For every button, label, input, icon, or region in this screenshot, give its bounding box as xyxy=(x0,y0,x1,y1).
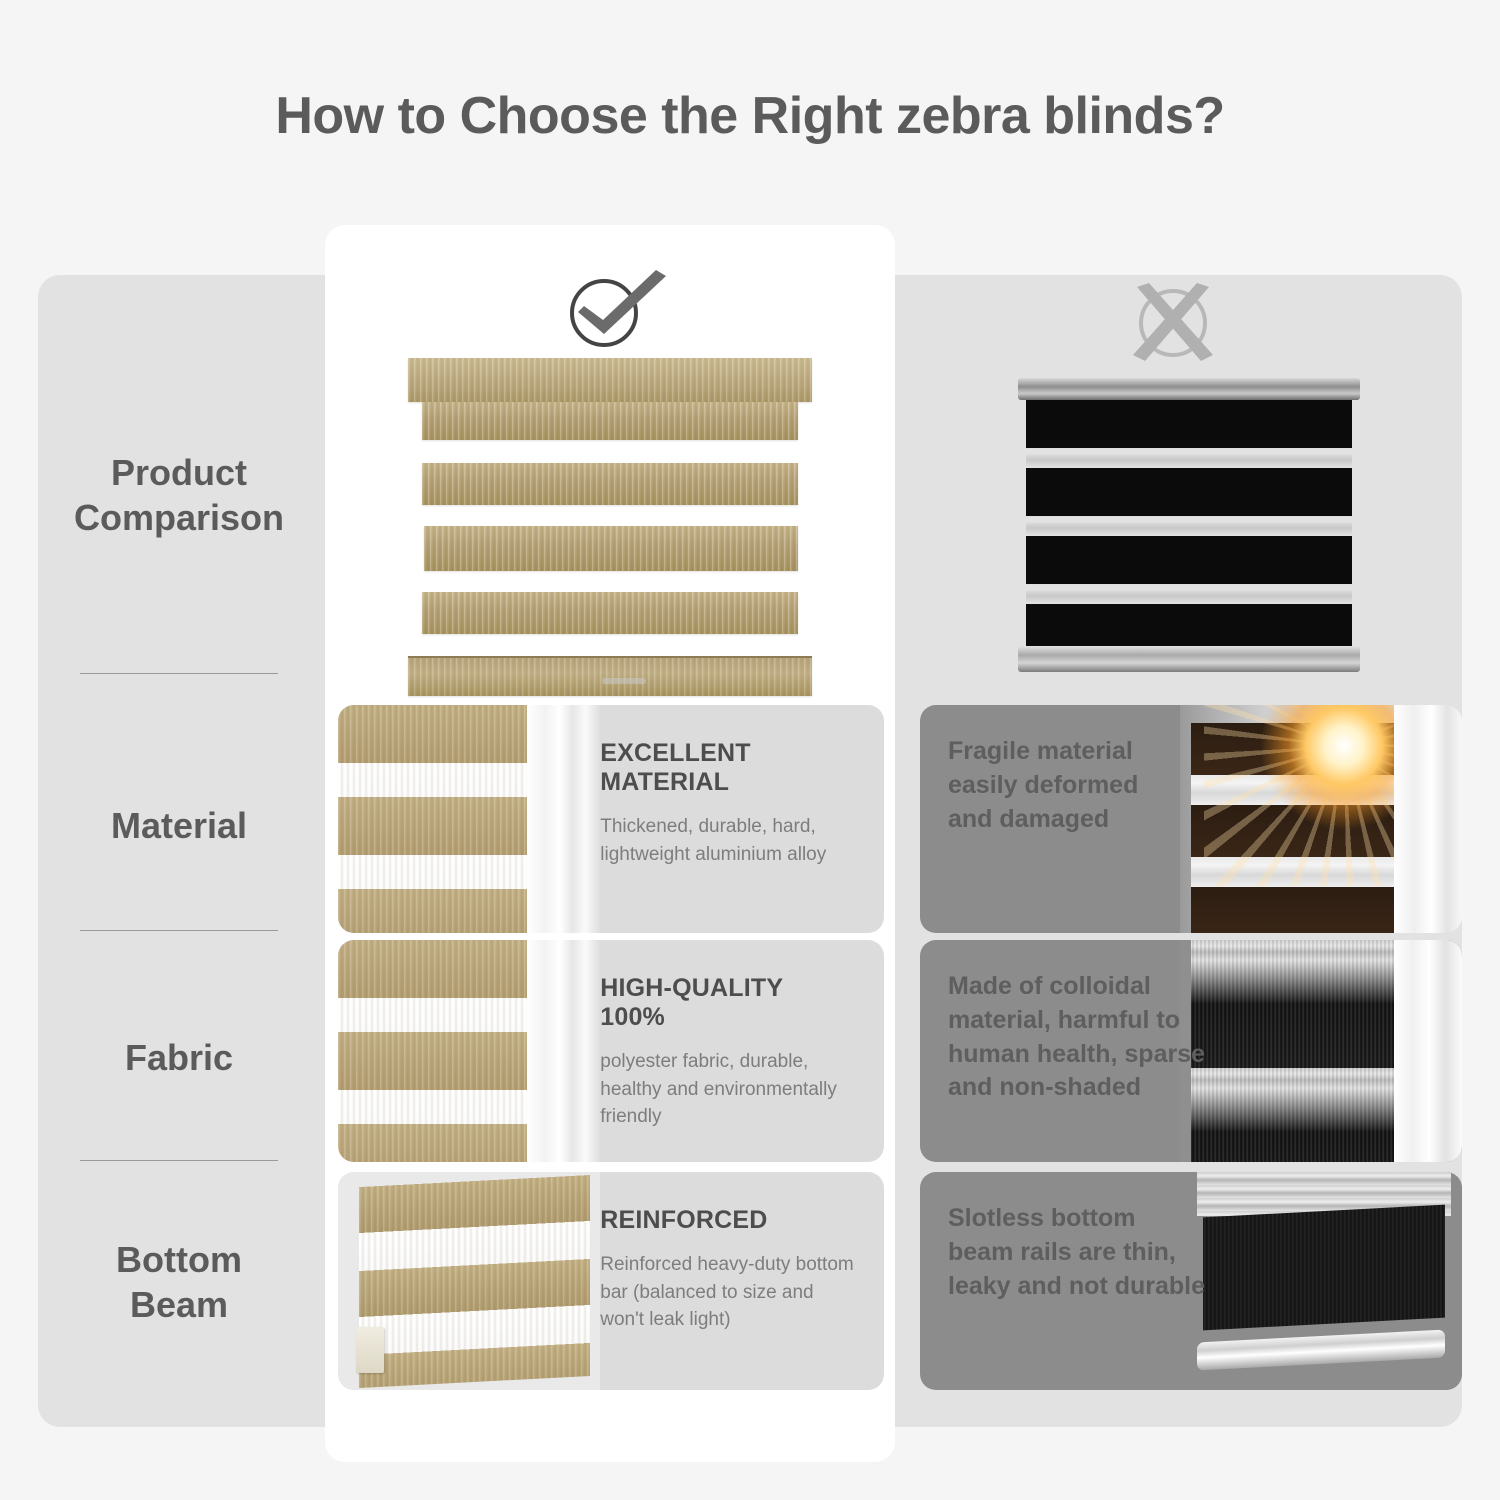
tan-stripes xyxy=(338,705,532,933)
good-feature-material: EXCELLENT MATERIAL Thickened, durable, h… xyxy=(338,705,884,933)
tan-bottom-bar-closeup-image xyxy=(338,1172,600,1390)
tan-slats xyxy=(359,1175,590,1388)
wood-grain-texture xyxy=(338,705,532,933)
window-frame xyxy=(1394,705,1462,933)
good-product-hero-image xyxy=(408,358,812,696)
bad-feature-bottom-beam-text: Slotless bottom beam rails are thin, lea… xyxy=(920,1172,1224,1390)
check-circle-icon xyxy=(556,268,676,352)
row-label-material: Material xyxy=(38,803,320,848)
feature-body: polyester fabric, durable, healthy and e… xyxy=(600,1048,854,1131)
window-frame xyxy=(1394,940,1462,1162)
cross-circle-icon xyxy=(1123,281,1223,365)
feature-title: EXCELLENT MATERIAL xyxy=(600,739,854,797)
bad-feature-bottom-beam: Slotless bottom beam rails are thin, lea… xyxy=(920,1172,1462,1390)
row-label-bottom-beam: Bottom Beam xyxy=(38,1237,320,1327)
bad-feature-material: Fragile material easily deformed and dam… xyxy=(920,705,1462,933)
hero-slat-top xyxy=(422,402,798,440)
row-divider-2 xyxy=(80,930,278,931)
feature-text: Made of colloidal material, harmful to h… xyxy=(948,970,1212,1105)
hero-slat-1 xyxy=(422,463,798,505)
feature-text: Slotless bottom beam rails are thin, lea… xyxy=(948,1202,1212,1303)
bad-feature-material-text: Fragile material easily deformed and dam… xyxy=(920,705,1224,933)
bad-feature-fabric-text: Made of colloidal material, harmful to h… xyxy=(920,940,1224,1162)
tan-blind-closeup-image xyxy=(338,705,600,933)
feature-text: Fragile material easily deformed and dam… xyxy=(948,735,1212,836)
feature-body: Reinforced heavy-duty bottom bar (balanc… xyxy=(600,1251,854,1334)
infographic-page: How to Choose the Right zebra blinds? Pr… xyxy=(0,0,1500,1500)
row-divider-1 xyxy=(80,673,278,674)
bad-hero-bottom-rail xyxy=(1018,646,1360,672)
bad-hero-headrail xyxy=(1018,378,1360,400)
bad-hero-sheer-overlay xyxy=(1026,400,1352,646)
wood-grain-texture xyxy=(359,1175,590,1388)
bad-feature-fabric: Made of colloidal material, harmful to h… xyxy=(920,940,1462,1162)
reinforced-end-cap xyxy=(356,1327,384,1373)
hero-bottom-bar xyxy=(408,656,812,696)
hero-bar-pull xyxy=(602,678,646,684)
good-feature-fabric: HIGH-QUALITY 100% polyester fabric, dura… xyxy=(338,940,884,1162)
row-label-product-comparison: Product Comparison xyxy=(38,450,320,540)
feature-title: HIGH-QUALITY 100% xyxy=(600,974,854,1032)
good-feature-bottom-beam-text: REINFORCED Reinforced heavy-duty bottom … xyxy=(578,1172,884,1390)
bad-hero-fabric xyxy=(1026,400,1352,646)
dark-fabric-band xyxy=(1203,1205,1445,1331)
hero-headrail xyxy=(408,358,812,402)
tan-stripes xyxy=(338,940,532,1162)
hero-slat-3 xyxy=(422,592,798,634)
bad-product-hero-image xyxy=(1018,378,1360,672)
good-feature-material-text: EXCELLENT MATERIAL Thickened, durable, h… xyxy=(578,705,884,933)
wood-grain-texture xyxy=(338,940,532,1162)
thin-bottom-rail xyxy=(1197,1329,1445,1370)
hero-slat-2 xyxy=(424,526,798,571)
good-feature-fabric-text: HIGH-QUALITY 100% polyester fabric, dura… xyxy=(578,940,884,1162)
page-title: How to Choose the Right zebra blinds? xyxy=(0,86,1500,146)
tan-fabric-closeup-image xyxy=(338,940,600,1162)
feature-title: REINFORCED xyxy=(600,1206,854,1235)
row-label-fabric: Fabric xyxy=(38,1035,320,1080)
row-divider-3 xyxy=(80,1160,278,1161)
row-label-column: Product Comparison Material Fabric Botto… xyxy=(38,275,320,1427)
feature-body: Thickened, durable, hard, lightweight al… xyxy=(600,813,854,868)
good-feature-bottom-beam: REINFORCED Reinforced heavy-duty bottom … xyxy=(338,1172,884,1390)
